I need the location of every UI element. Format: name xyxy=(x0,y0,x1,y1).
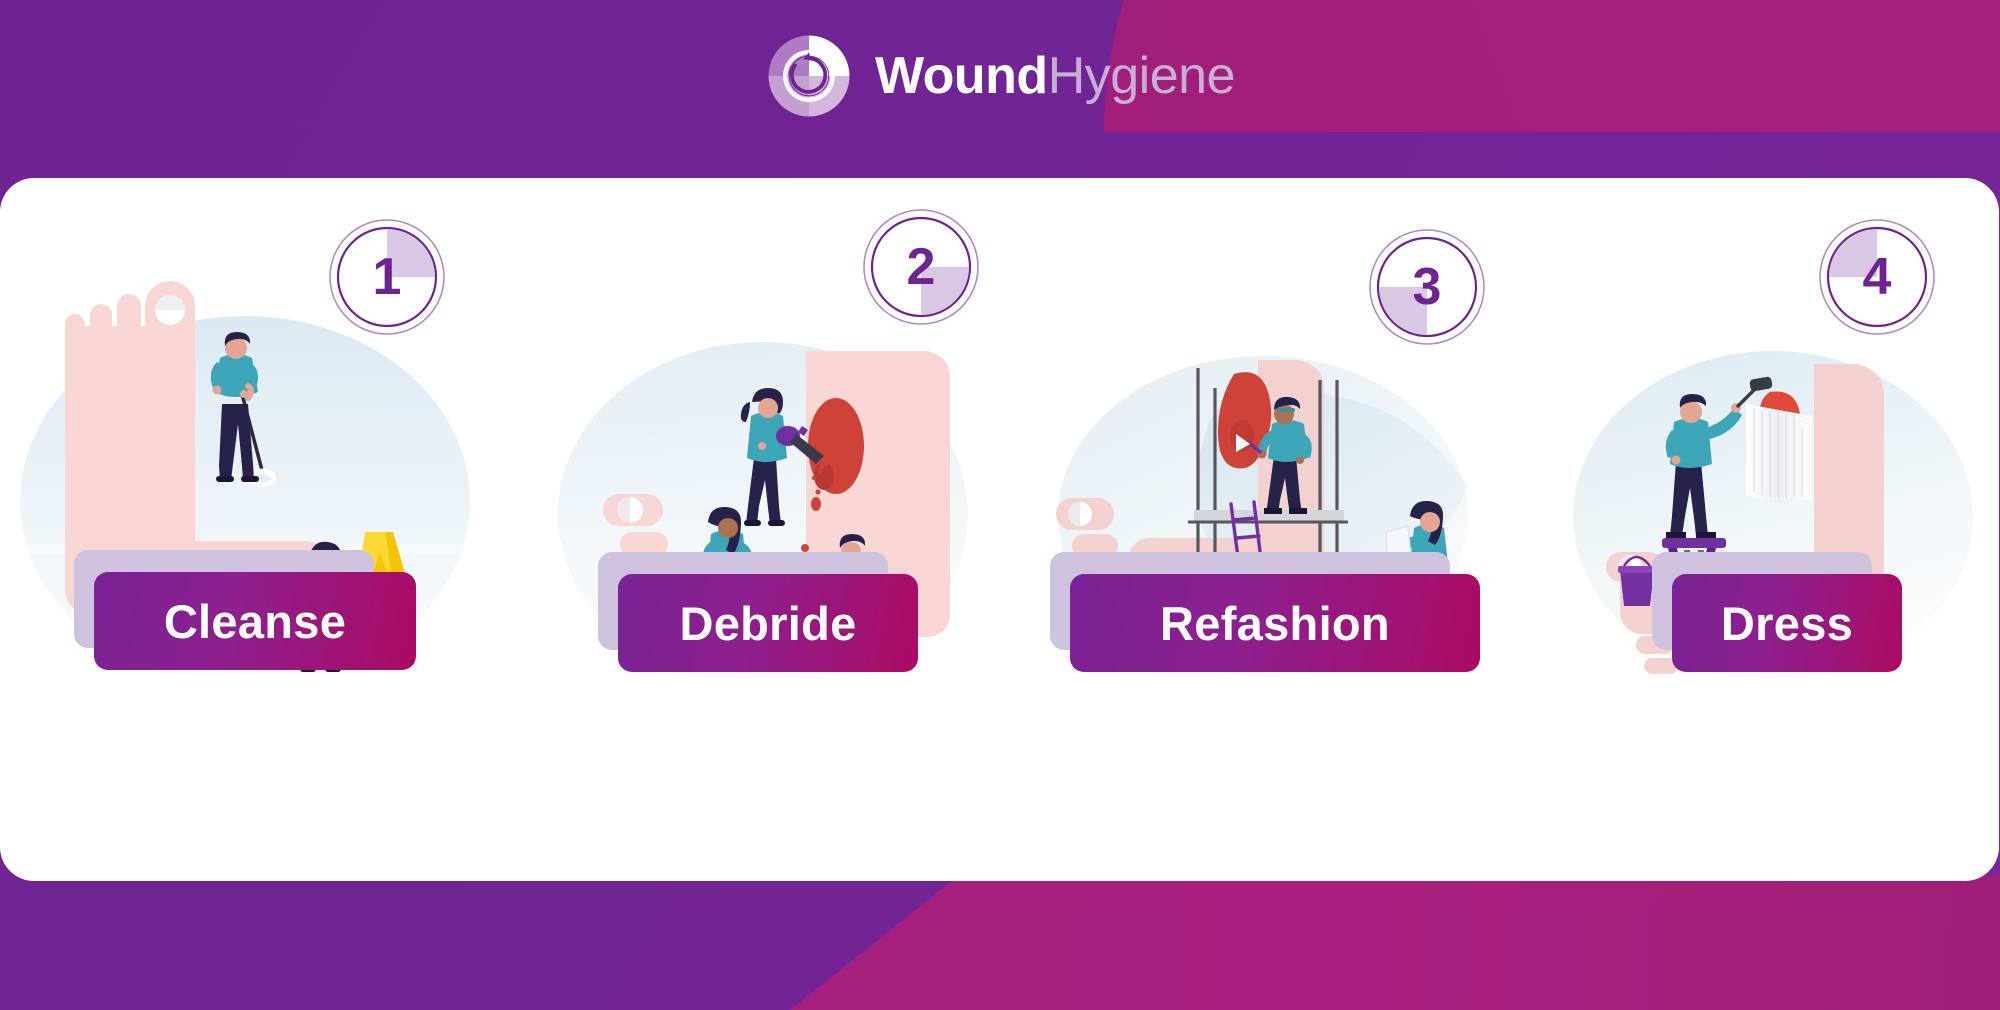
brand-wordmark: WoundHygiene xyxy=(875,50,1235,102)
step-badge-4: 4 xyxy=(1818,218,1936,336)
step-number-2: 2 xyxy=(862,208,980,326)
step-badge-3: 3 xyxy=(1368,228,1486,346)
brand-header: WoundHygiene xyxy=(0,32,2000,120)
background-magenta-bottom-accent xyxy=(790,875,2000,1010)
brand-name-light: Hygiene xyxy=(1048,47,1235,105)
step-number-4: 4 xyxy=(1818,218,1936,336)
cleanse-button[interactable]: Cleanse xyxy=(94,572,416,670)
wound-hygiene-logo-icon xyxy=(765,32,853,120)
step-badge-1: 1 xyxy=(328,218,446,336)
step-badge-2: 2 xyxy=(862,208,980,326)
refashion-button[interactable]: Refashion xyxy=(1070,574,1480,672)
debride-button[interactable]: Debride xyxy=(618,574,918,672)
steps-card: 1 2 3 xyxy=(0,178,1999,881)
step-number-1: 1 xyxy=(328,218,446,336)
step-number-3: 3 xyxy=(1368,228,1486,346)
dress-button[interactable]: Dress xyxy=(1672,574,1902,672)
infographic-root: WoundHygiene xyxy=(0,0,2000,1010)
brand-name-bold: Wound xyxy=(875,47,1048,105)
